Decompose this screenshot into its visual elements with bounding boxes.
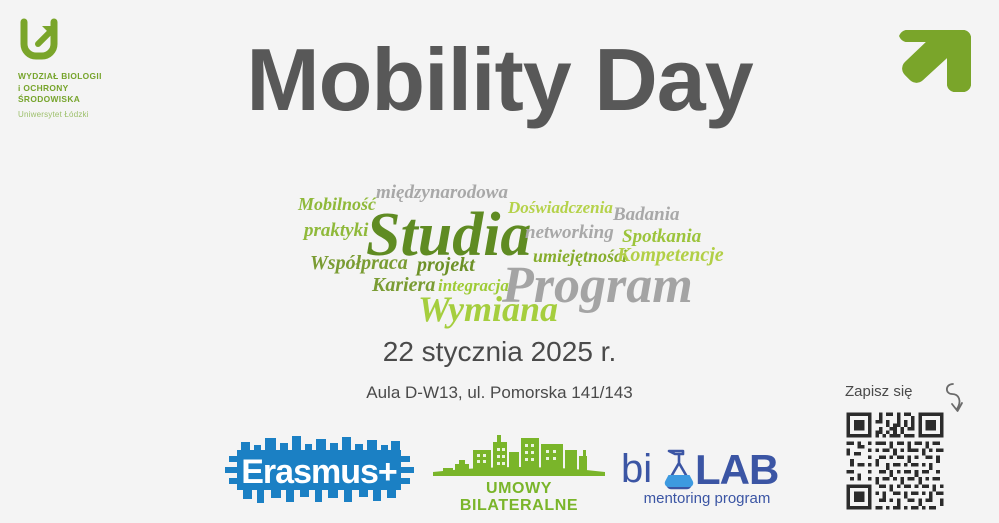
erasmus-label: Erasmus+	[241, 453, 397, 491]
curved-arrow-icon	[943, 381, 969, 415]
cloud-word-badania: Badania	[613, 204, 680, 226]
biolab-tagline: mentoring program	[644, 490, 771, 507]
word-cloud: Mobilność międzynarodowa praktyki Studia…	[290, 178, 710, 323]
biolab-prefix: bi	[621, 447, 652, 491]
city-skyline-icon	[433, 430, 605, 478]
cloud-word-wspolpraca: Współpraca	[310, 252, 408, 275]
umowy-label-line-2: BILATERALNE	[433, 497, 605, 514]
qr-code[interactable]	[843, 409, 947, 513]
cloud-word-praktyki: praktyki	[304, 220, 368, 242]
partner-logos: Erasmus+	[205, 428, 805, 516]
umowy-bilateralne-logo: UMOWY BILATERALNE	[433, 430, 605, 514]
poster-canvas: WYDZIAŁ BIOLOGII i OCHRONY ŚRODOWISKA Un…	[0, 0, 999, 523]
cloud-word-wymiana: Wymiana	[418, 288, 558, 330]
erasmus-plus-logo: Erasmus+	[223, 434, 415, 510]
cloud-word-doswiadczenia: Doświadczenia	[508, 198, 613, 218]
biolab-suffix: LAB	[695, 446, 778, 493]
cloud-word-networking: networking	[525, 222, 614, 244]
flask-icon	[665, 451, 693, 488]
signup-block[interactable]: Zapisz się	[843, 383, 971, 513]
biolab-logo: bi LAB mentoring program	[617, 442, 792, 508]
cloud-word-mobilnosc: Mobilność	[298, 194, 376, 215]
event-date: 22 stycznia 2025 r.	[0, 336, 999, 368]
umowy-label-line-1: UMOWY	[433, 480, 605, 497]
page-title: Mobility Day	[0, 36, 999, 124]
